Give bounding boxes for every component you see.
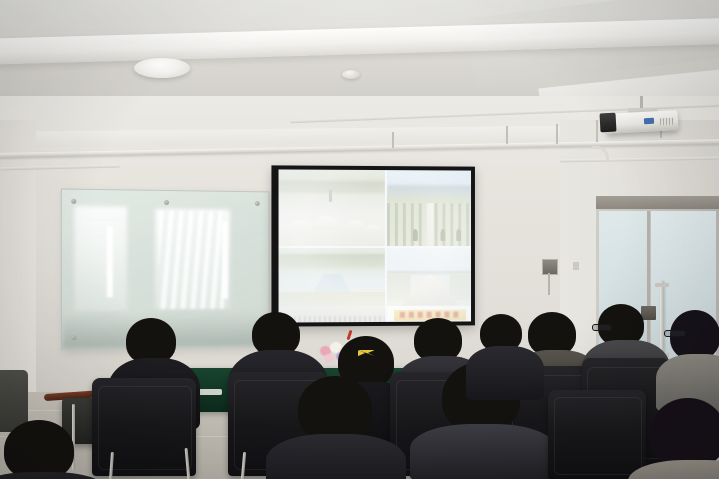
slide-top-left	[279, 169, 386, 246]
ceiling-light-icon	[134, 58, 190, 78]
pipe-hanger	[506, 126, 508, 144]
whiteboard-screw	[255, 201, 260, 206]
door-lock-icon[interactable]	[641, 306, 656, 320]
wall-plate	[573, 262, 579, 270]
wall-control-box[interactable]	[542, 259, 558, 275]
pipe-hanger	[556, 124, 558, 144]
wall-box-cable	[548, 273, 550, 295]
chair[interactable]	[548, 390, 646, 479]
projector-badge	[644, 118, 654, 125]
projection-screen-surface	[279, 169, 471, 322]
slide-bottom-right	[387, 248, 471, 323]
chair[interactable]	[92, 378, 196, 476]
door-header	[596, 196, 719, 209]
projection-screen[interactable]	[271, 165, 475, 326]
banner-text	[400, 312, 461, 319]
whiteboard-reflection	[74, 206, 127, 312]
whiteboard-screw	[71, 335, 76, 340]
curtain-reflection	[159, 211, 224, 309]
window-light-streak	[107, 227, 113, 298]
smoke-detector-icon	[342, 70, 360, 79]
door-handle-bracket	[655, 283, 669, 287]
pipe-hanger	[596, 120, 598, 142]
slide-top-right	[387, 170, 471, 246]
slide-bottom-left	[279, 248, 386, 323]
pipe-hanger	[392, 132, 394, 148]
whiteboard-screw	[71, 199, 76, 204]
window-light-streak	[222, 221, 228, 298]
meeting-room-photo	[0, 0, 719, 479]
slide-image-grid	[279, 169, 471, 322]
whiteboard-screw	[164, 200, 169, 205]
projector-lens-icon	[600, 113, 617, 133]
door-handle[interactable]	[660, 281, 664, 357]
projector-vent	[660, 118, 674, 126]
